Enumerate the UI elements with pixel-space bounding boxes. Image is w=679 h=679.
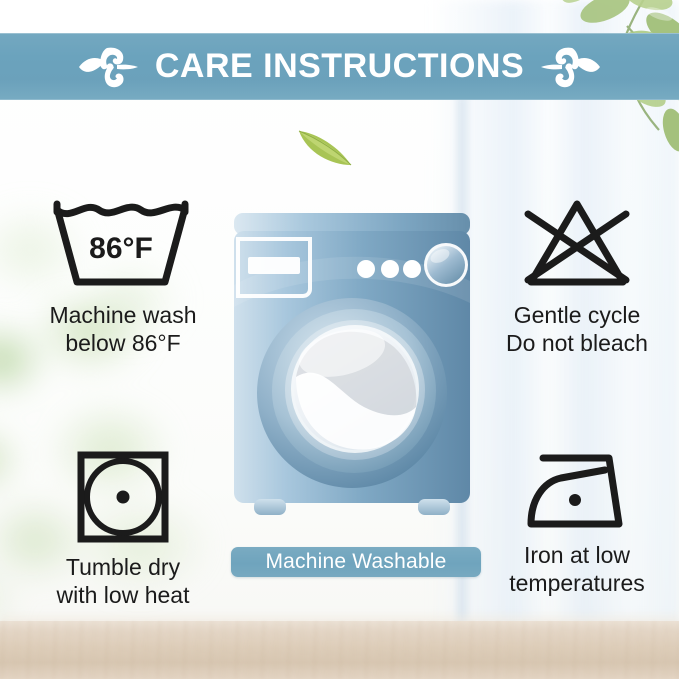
- fleur-de-lis-icon-left: [77, 44, 139, 90]
- machine-washable-badge-label: Machine Washable: [265, 550, 446, 574]
- washer-foot-left: [254, 499, 286, 515]
- wash-temperature-value: 86°F: [89, 232, 153, 265]
- washer-button-3: [403, 260, 421, 278]
- washing-machine-illustration: [230, 211, 474, 531]
- washer-foot-right: [418, 499, 450, 515]
- header-banner: CARE INSTRUCTIONS: [0, 33, 679, 100]
- machine-washable-badge: Machine Washable: [231, 547, 481, 577]
- wash-tub-icon: 86°F: [47, 196, 199, 294]
- instruction-label-iron: Iron at low temperatures: [477, 542, 677, 597]
- instruction-do-not-bleach: Gentle cycle Do not bleach: [477, 196, 677, 357]
- instruction-machine-wash: 86°F Machine wash below 86°F: [14, 196, 232, 357]
- instruction-label-tumble-dry: Tumble dry with low heat: [14, 554, 232, 609]
- instruction-tumble-dry: Tumble dry with low heat: [14, 448, 232, 609]
- washer-button-1: [357, 260, 375, 278]
- triangle-crossed-no-bleach-icon: [522, 196, 632, 294]
- page-title: CARE INSTRUCTIONS: [155, 47, 524, 86]
- background-wooden-table: [0, 621, 679, 679]
- washer-button-2: [381, 260, 399, 278]
- fleur-de-lis-icon-right: [540, 44, 602, 90]
- instruction-iron-low: Iron at low temperatures: [477, 448, 677, 597]
- instruction-label-machine-wash: Machine wash below 86°F: [14, 302, 232, 357]
- instruction-label-do-not-bleach: Gentle cycle Do not bleach: [477, 302, 677, 357]
- wood-grain-texture: [0, 621, 679, 679]
- tumble-dry-low-icon: [74, 448, 172, 546]
- iron-low-temp-icon: [521, 448, 633, 534]
- floating-leaf-icon: [295, 125, 357, 169]
- washer-display-window: [248, 257, 300, 274]
